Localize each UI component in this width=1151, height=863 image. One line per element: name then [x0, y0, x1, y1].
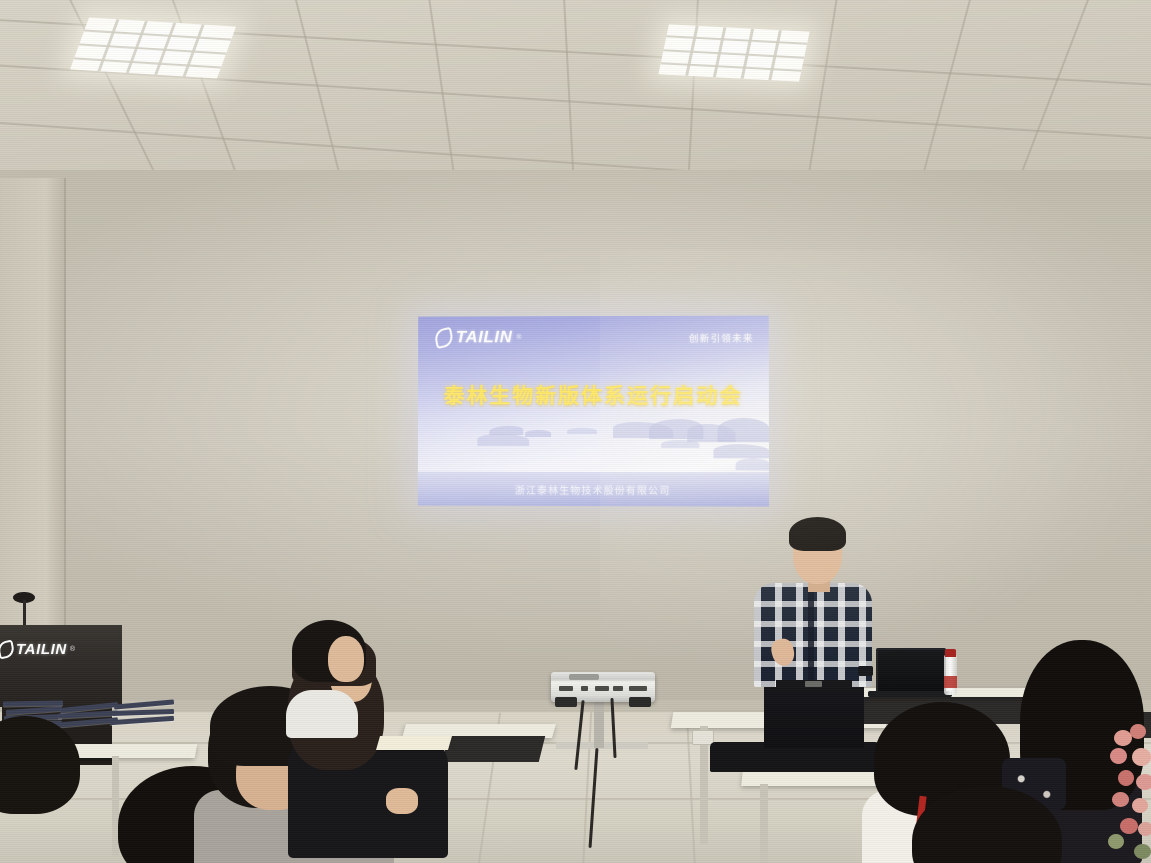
slide-logo-text: TAILIN	[456, 327, 513, 347]
podium-logo-text: TAILIN	[16, 641, 67, 658]
ceiling-light-panel	[70, 17, 236, 78]
desk-leg	[760, 784, 768, 863]
open-booklet	[376, 736, 452, 750]
ceiling	[0, 0, 1151, 182]
slide-title: 泰林生物新版体系运行启动会	[418, 380, 769, 410]
belt-buckle	[805, 681, 822, 687]
bottle-cap	[945, 649, 956, 657]
podium-logo: TAILIN ®	[0, 641, 75, 658]
slide-footer-company: 浙江泰林生物技术股份有限公司	[418, 482, 769, 498]
projected-slide: TAILIN ® 创新引领未来 泰林生物新版体系运行启动会 浙江泰林生物技术股份…	[418, 316, 769, 507]
presentation-photo: TAILIN ® 创新引领未来 泰林生物新版体系运行启动会 浙江泰林生物技术股份…	[0, 0, 1151, 863]
laptop-base	[868, 691, 952, 697]
column-edge	[64, 178, 66, 648]
tailin-droplet-icon	[433, 326, 454, 348]
speaker-hair	[789, 517, 846, 551]
speaker-pants	[764, 682, 864, 748]
bottle-label	[944, 676, 957, 688]
ceiling-light-panel	[658, 24, 809, 81]
water-bottle	[944, 655, 957, 695]
tailin-droplet-icon	[0, 640, 16, 660]
slide-tagline: 创新引领未来	[689, 331, 754, 345]
slide-logo: TAILIN ®	[435, 327, 522, 347]
projector	[551, 672, 655, 702]
projector-handle	[569, 674, 599, 680]
registered-trademark-icon: ®	[70, 646, 75, 653]
laptop-screen	[876, 648, 946, 696]
flower-bouquet	[1108, 722, 1151, 862]
projector-stand	[594, 700, 604, 748]
speaker-wristwatch	[858, 666, 873, 676]
speaker-shirt-placket	[808, 586, 814, 686]
registered-trademark-icon: ®	[516, 334, 521, 341]
wall-column	[0, 178, 66, 648]
